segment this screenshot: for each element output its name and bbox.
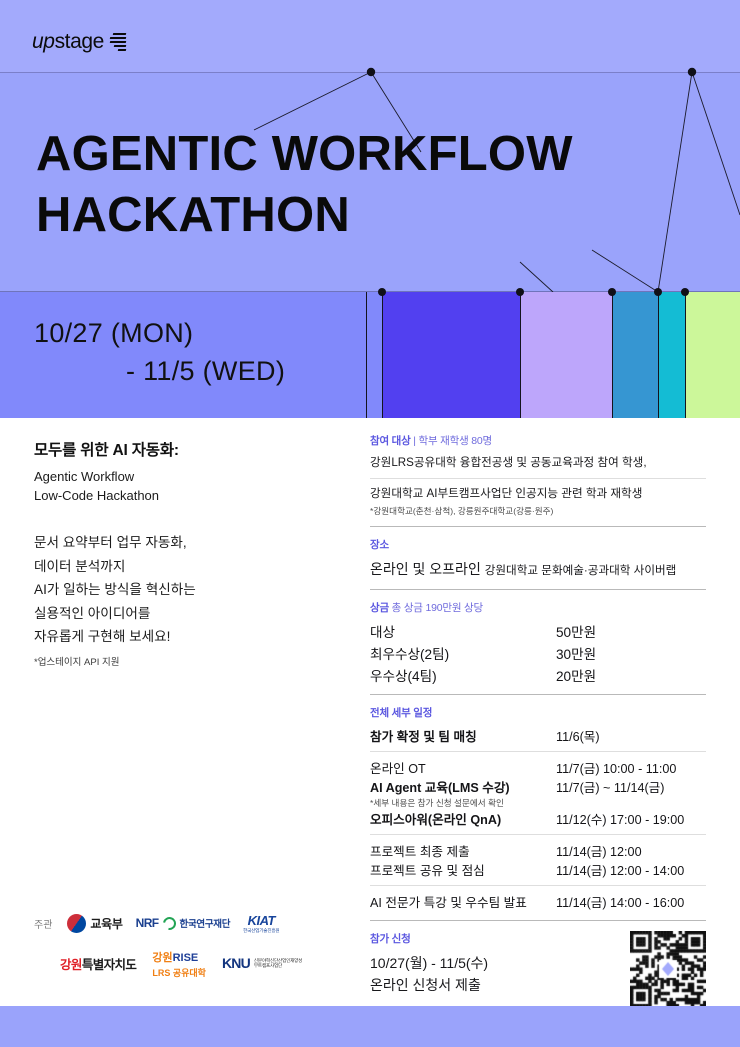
prize-row: 최우수상(2팀)30만원 — [370, 643, 706, 663]
venue-main: 온라인 및 오프라인 — [370, 561, 485, 577]
divider — [370, 478, 706, 479]
swatch-node-dot — [654, 288, 662, 296]
audience-heading-rest: | 학부 재학생 80명 — [411, 435, 492, 447]
swatch-lavender — [520, 292, 612, 418]
content-section: 모두를 위한 AI 자동화: Agentic Workflow Low-Code… — [0, 418, 740, 1047]
schedule-fine-print: *세부 내용은 참가 신청 설문에서 확인 — [370, 797, 706, 809]
upstage-stripes-icon — [110, 32, 126, 52]
audience-fine-print: *강원대학교(춘천·삼척), 강릉원주대학교(강릉·원주) — [370, 505, 706, 517]
sponsor-logo-kiat: KIAT 한국산업기술진흥원 — [243, 913, 279, 934]
rise-line-1: 강원RISE — [152, 948, 198, 966]
hero-section: upstage AGENTIC WORKFLOW HACKATHON 10/27… — [0, 0, 740, 418]
prize-heading-bold: 상금 — [370, 602, 389, 614]
schedule-group-3: 프로젝트 최종 제출11/14(금) 12:00프로젝트 공유 및 점심11/1… — [370, 841, 706, 879]
audience-heading: 참여 대상 | 학부 재학생 80명 — [370, 433, 706, 448]
upstage-logo: upstage — [32, 30, 126, 54]
detail-row-label: 대상 — [370, 621, 395, 641]
section-prize: 상금 총 상금 190만원 상당 대상50만원최우수상(2팀)30만원우수상(4… — [370, 600, 706, 685]
schedule-row: 온라인 OT11/7(금) 10:00 - 11:00 — [370, 758, 706, 777]
detail-row-value: 20만원 — [556, 665, 706, 685]
sponsor-logo-nrf: NRF 한국연구재단 — [136, 916, 231, 930]
swatch-periwinkle — [366, 292, 382, 418]
intro-body-line-2: 데이터 분석까지 — [34, 555, 334, 578]
sponsor-logo-gangwon-rise: 강원RISE LRS 공유대학 — [152, 948, 206, 979]
detail-row-label: 온라인 OT — [370, 758, 426, 777]
sponsor-moe-text: 교육부 — [90, 915, 122, 932]
kiat-abbr: KIAT — [248, 913, 275, 928]
event-dates: 10/27 (MON) - 11/5 (WED) — [34, 314, 285, 391]
rise-line-2: LRS 공유대학 — [152, 966, 206, 979]
qr-code[interactable] — [630, 931, 706, 1007]
detail-row-label: AI 전문가 특강 및 우수팀 발표 — [370, 892, 527, 911]
sponsor-row-1: 주관 교육부 NRF 한국연구재단 KIAT 한국산업기술진흥원 — [34, 913, 344, 934]
intro-body-line-4: 실용적인 아이디어를 — [34, 602, 334, 625]
intro-subtitle-line-1: Agentic Workflow — [34, 467, 334, 486]
schedule-row: AI Agent 교육(LMS 수강)11/7(금) ~ 11/14(금) — [370, 777, 706, 796]
schedule-group-1: 참가 확정 및 팀 매칭11/6(목) — [370, 726, 706, 745]
schedule-heading: 전체 세부 일정 — [370, 705, 706, 720]
right-column: 참여 대상 | 학부 재학생 80명 강원LRS공유대학 융합전공생 및 공동교… — [370, 433, 706, 1007]
title-line-1: AGENTIC WORKFLOW — [36, 127, 573, 181]
schedule-group-2: 온라인 OT11/7(금) 10:00 - 11:00AI Agent 교육(L… — [370, 758, 706, 828]
detail-row-value: 11/14(금) 12:00 - 14:00 — [556, 860, 706, 879]
detail-row-label: 최우수상(2팀) — [370, 643, 449, 663]
taegeuk-icon — [67, 914, 86, 933]
detail-row-value: 11/7(금) ~ 11/14(금) — [556, 777, 706, 796]
schedule-row: 프로젝트 최종 제출11/14(금) 12:00 — [370, 841, 706, 860]
section-audience: 참여 대상 | 학부 재학생 80명 강원LRS공유대학 융합전공생 및 공동교… — [370, 433, 706, 517]
apply-line-1: 10/27(월) - 11/5(수) — [370, 952, 488, 974]
divider — [370, 589, 706, 590]
detail-row-value: 11/12(수) 17:00 - 19:00 — [556, 809, 706, 828]
prize-row-list: 대상50만원최우수상(2팀)30만원우수상(4팀)20만원 — [370, 621, 706, 685]
audience-line-1: 강원LRS공유대학 융합전공생 및 공동교육과정 참여 학생, — [370, 454, 706, 472]
intro-body-line-1: 문서 요약부터 업무 자동화, — [34, 531, 334, 554]
prize-heading-rest: 총 상금 190만원 상당 — [389, 602, 483, 614]
divider — [370, 751, 706, 752]
schedule-row: 오피스아워(온라인 QnA)11/12(수) 17:00 - 19:00 — [370, 809, 706, 828]
intro-headline: 모두를 위한 AI 자동화: — [34, 438, 334, 460]
intro-body: 문서 요약부터 업무 자동화, 데이터 분석까지 AI가 일하는 방식을 혁신하… — [34, 531, 334, 648]
detail-row-label: 참가 확정 및 팀 매칭 — [370, 726, 477, 745]
knu-full-name: 신분야혁신단산업인재양성 부트캠프사업단 — [254, 958, 302, 969]
intro-body-line-5: 자유롭게 구현해 보세요! — [34, 625, 334, 648]
venue-tail: 강원대학교 문화예술·공과대학 사이버랩 — [485, 564, 677, 577]
audience-line-2: 강원대학교 AI부트캠프사업단 인공지능 관련 학과 재학생 — [370, 485, 706, 503]
detail-row-label: 프로젝트 공유 및 점심 — [370, 860, 485, 879]
schedule-group-4: AI 전문가 특강 및 우수팀 발표11/14(금) 14:00 - 16:00 — [370, 892, 706, 911]
section-venue: 장소 온라인 및 오프라인 강원대학교 문화예술·공과대학 사이버랩 — [370, 537, 706, 580]
divider — [370, 834, 706, 835]
swatch-lime — [685, 292, 740, 418]
detail-row-value: 11/6(목) — [556, 726, 706, 745]
knu-abbr: KNU — [222, 955, 250, 971]
divider — [370, 694, 706, 695]
detail-row-label: 오피스아워(온라인 QnA) — [370, 809, 501, 828]
sponsor-nrf-text: 한국연구재단 — [180, 916, 231, 930]
section-apply: 참가 신청 10/27(월) - 11/5(수) 온라인 신청서 제출 — [370, 931, 706, 1007]
kiat-full-name: 한국산업기술진흥원 — [243, 928, 279, 934]
intro-subtitle: Agentic Workflow Low-Code Hackathon — [34, 467, 334, 505]
detail-row-value: 11/14(금) 14:00 - 16:00 — [556, 892, 706, 911]
sponsor-label: 주관 — [34, 916, 52, 931]
detail-row-label: AI Agent 교육(LMS 수강) — [370, 777, 510, 796]
venue-value: 온라인 및 오프라인 강원대학교 문화예술·공과대학 사이버랩 — [370, 558, 706, 580]
schedule-row: AI 전문가 특강 및 우수팀 발표11/14(금) 14:00 - 16:00 — [370, 892, 706, 911]
swatch-cyan — [658, 292, 685, 418]
divider — [370, 885, 706, 886]
apply-text-block: 참가 신청 10/27(월) - 11/5(수) 온라인 신청서 제출 — [370, 931, 488, 996]
sponsor-logo-gangwon: 강원특별자치도 — [60, 954, 136, 973]
upstage-logo-stage: stage — [55, 30, 104, 53]
swatch-node-dot — [516, 288, 524, 296]
upstage-logo-text: upstage — [32, 30, 104, 54]
sponsor-row-2: 강원특별자치도 강원RISE LRS 공유대학 KNU 신분야혁신단산업인재양성… — [34, 948, 344, 979]
detail-row-value: 50만원 — [556, 621, 706, 641]
swatch-node-dot — [378, 288, 386, 296]
detail-row-label: 프로젝트 최종 제출 — [370, 841, 470, 860]
prize-row: 우수상(4팀)20만원 — [370, 665, 706, 685]
page-title: AGENTIC WORKFLOW HACKATHON — [36, 124, 573, 246]
gangwon-text: 강원특별자치도 — [60, 954, 136, 973]
divider — [370, 526, 706, 527]
event-date-end: - 11/5 (WED) — [34, 352, 285, 390]
apply-heading: 참가 신청 — [370, 931, 488, 946]
schedule-row: 참가 확정 및 팀 매칭11/6(목) — [370, 726, 706, 745]
detail-row-value: 11/7(금) 10:00 - 11:00 — [556, 758, 706, 777]
sponsor-logo-moe: 교육부 — [67, 914, 122, 933]
section-schedule: 전체 세부 일정 참가 확정 및 팀 매칭11/6(목) 온라인 OT11/7(… — [370, 705, 706, 911]
intro-body-line-3: AI가 일하는 방식을 혁신하는 — [34, 578, 334, 601]
sponsor-logo-knu: KNU 신분야혁신단산업인재양성 부트캠프사업단 — [222, 955, 302, 971]
prize-heading: 상금 총 상금 190만원 상당 — [370, 600, 706, 615]
detail-row-value: 30만원 — [556, 643, 706, 663]
color-swatch-strip — [366, 292, 740, 418]
apply-wrapper: 참가 신청 10/27(월) - 11/5(수) 온라인 신청서 제출 — [370, 931, 706, 1007]
detail-row-label: 우수상(4팀) — [370, 665, 437, 685]
apply-line-2: 온라인 신청서 제출 — [370, 974, 488, 996]
upstage-logo-up: up — [32, 30, 55, 53]
swatch-azure — [612, 292, 658, 418]
event-date-start: 10/27 (MON) — [34, 318, 193, 348]
nrf-leaf-icon — [160, 914, 178, 932]
left-column: 모두를 위한 AI 자동화: Agentic Workflow Low-Code… — [34, 438, 334, 668]
poster-root: upstage AGENTIC WORKFLOW HACKATHON 10/27… — [0, 0, 740, 1047]
divider — [370, 920, 706, 921]
schedule-row: 프로젝트 공유 및 점심11/14(금) 12:00 - 14:00 — [370, 860, 706, 879]
audience-heading-bold: 참여 대상 — [370, 435, 411, 447]
sponsor-block: 주관 교육부 NRF 한국연구재단 KIAT 한국산업기술진흥원 강원특별 — [34, 913, 344, 979]
nrf-abbr: NRF — [136, 916, 159, 930]
swatch-node-dot — [681, 288, 689, 296]
venue-heading: 장소 — [370, 537, 706, 552]
intro-subtitle-line-2: Low-Code Hackathon — [34, 486, 334, 505]
detail-row-value: 11/14(금) 12:00 — [556, 841, 706, 860]
swatch-node-dot — [608, 288, 616, 296]
swatch-indigo — [382, 292, 520, 418]
title-line-2: HACKATHON — [36, 185, 573, 246]
footer-band — [0, 1006, 740, 1047]
intro-note: *업스테이지 API 지원 — [34, 654, 334, 668]
prize-row: 대상50만원 — [370, 621, 706, 641]
